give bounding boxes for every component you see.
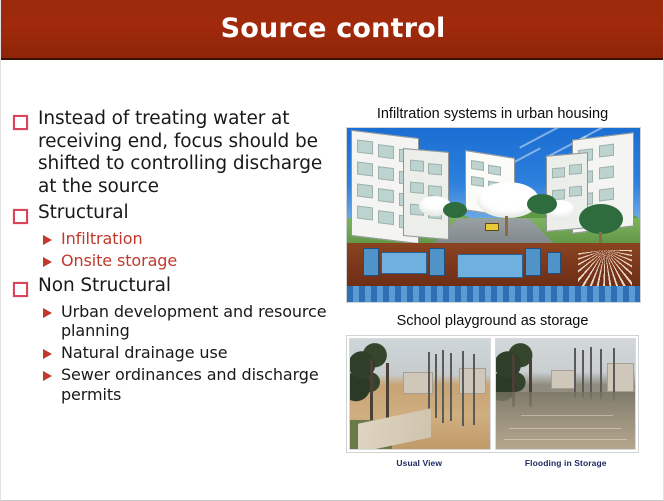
- sub-list: Infiltration Onsite storage: [43, 229, 343, 270]
- infiltration-tank: [457, 254, 523, 278]
- arrow-bullet-icon: [43, 349, 52, 359]
- pole: [450, 353, 452, 421]
- dark-tree: [579, 204, 623, 234]
- pole: [462, 351, 464, 426]
- bullet-text: Non Structural: [38, 275, 171, 298]
- page-title: Source control: [221, 13, 446, 44]
- arrow-bullet-icon: [43, 257, 52, 267]
- dark-tree: [443, 202, 467, 218]
- water-ripple: [521, 415, 613, 416]
- pole: [442, 350, 444, 423]
- arrow-bullet-icon: [43, 371, 52, 381]
- pole: [435, 354, 437, 418]
- list-item: Structural: [13, 202, 343, 225]
- sub-bullet-text: Infiltration: [61, 229, 143, 248]
- infiltration-pit: [363, 248, 379, 276]
- car: [485, 223, 499, 231]
- sub-bullet-text: Onsite storage: [61, 251, 177, 270]
- trees: [350, 341, 409, 420]
- dark-tree: [527, 194, 557, 214]
- list-item: Infiltration: [43, 229, 343, 248]
- list-item: Urban development and resource planning: [43, 302, 343, 340]
- flood-water: [496, 392, 636, 449]
- background-building: [551, 370, 575, 390]
- sub-bullet-text: Urban development and resource planning: [61, 302, 343, 340]
- arrow-bullet-icon: [43, 235, 52, 245]
- photo-label-usual-view: Usual View: [346, 458, 493, 468]
- figure-2-image: [346, 335, 639, 453]
- arrow-bullet-icon: [43, 308, 52, 318]
- figure-2-sub-labels: Usual View Flooding in Storage: [346, 458, 639, 468]
- pole: [574, 348, 576, 399]
- tree-trunk: [505, 216, 508, 236]
- bullet-text: Structural: [38, 202, 129, 225]
- bullet-text: Instead of treating water at receiving e…: [38, 108, 343, 198]
- slide-title-bar: Source control: [1, 0, 664, 60]
- figure-column: Infiltration systems in urban housing: [346, 106, 646, 468]
- list-item: Instead of treating water at receiving e…: [13, 108, 343, 198]
- list-item: Onsite storage: [43, 251, 343, 270]
- square-bullet-icon: [13, 282, 28, 297]
- list-item: Non Structural: [13, 275, 343, 298]
- tree-trunk: [386, 363, 389, 420]
- background-building: [607, 363, 634, 391]
- sub-bullet-text: Natural drainage use: [61, 343, 227, 362]
- apartment-building: [403, 148, 449, 240]
- list-item: Sewer ordinances and discharge permits: [43, 365, 343, 403]
- sub-bullet-text: Sewer ordinances and discharge permits: [61, 365, 343, 403]
- water-ripple: [509, 428, 621, 429]
- slide: Source control Instead of treating water…: [0, 0, 664, 501]
- infiltration-tank: [381, 252, 427, 274]
- figure-1-caption: Infiltration systems in urban housing: [346, 106, 639, 122]
- infiltration-pit: [429, 248, 445, 276]
- square-bullet-icon: [13, 209, 28, 224]
- infiltration-pit: [525, 248, 541, 276]
- figure-2-caption: School playground as storage: [346, 313, 639, 329]
- sub-list: Urban development and resource planning …: [43, 302, 343, 404]
- photo-flooding-in-storage: [495, 338, 637, 450]
- square-bullet-icon: [13, 115, 28, 130]
- list-item: Natural drainage use: [43, 343, 343, 362]
- tree-trunk: [370, 359, 373, 421]
- photo-label-flooding-in-storage: Flooding in Storage: [493, 458, 640, 468]
- water-table: [347, 286, 640, 302]
- tree-roots: [578, 250, 632, 286]
- bullet-list: Instead of treating water at receiving e…: [13, 108, 343, 409]
- figure-1-image: [346, 127, 641, 303]
- pole: [473, 354, 475, 424]
- photo-usual-view: [349, 338, 491, 450]
- water-ripple: [504, 439, 627, 440]
- infiltration-pit: [547, 252, 561, 274]
